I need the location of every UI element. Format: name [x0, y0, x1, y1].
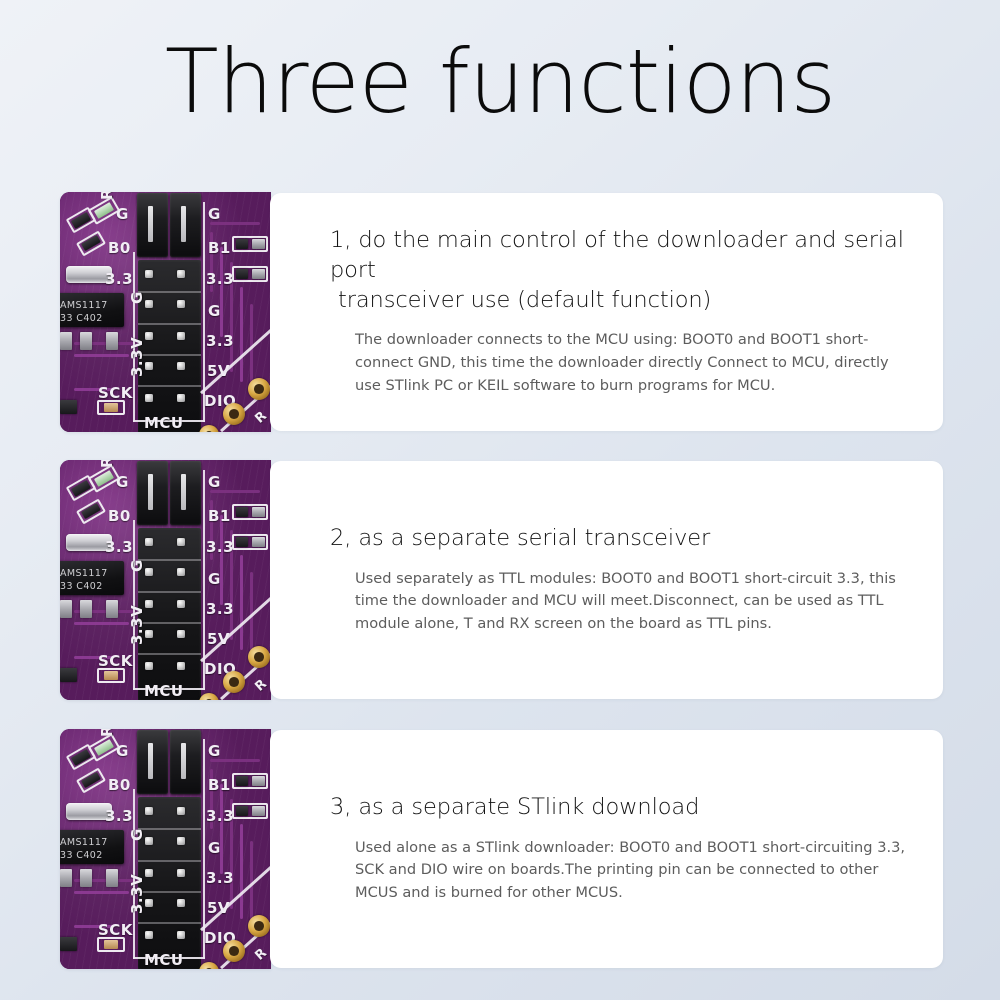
- pcb-label-mcu: MCU: [144, 414, 184, 432]
- pcb-label-g-left: G: [116, 473, 129, 491]
- pcb-regulator-label: AMS1117: [60, 300, 108, 311]
- pcb-via: [223, 403, 245, 425]
- pcb-pin: [145, 394, 153, 402]
- pcb-pin: [145, 837, 153, 845]
- function-card-3: 3, as a separate STlink download Used al…: [270, 730, 943, 968]
- card-description-2: Used separately as TTL modules: BOOT0 an…: [330, 568, 913, 636]
- pcb-pin: [145, 807, 153, 815]
- pcb-pin: [177, 662, 185, 670]
- pcb-pin: [177, 394, 185, 402]
- pcb-label-sck: SCK: [98, 921, 133, 939]
- pcb-component: [60, 937, 77, 951]
- pcb-pin: [145, 931, 153, 939]
- pcb-pin: [145, 270, 153, 278]
- pcb-divider: [138, 828, 201, 830]
- pcb-label-corner: R: [98, 192, 116, 200]
- pcb-pin: [177, 630, 185, 638]
- pcb-label-g-right: G: [208, 205, 221, 223]
- pcb-label-b1: B1: [208, 507, 231, 525]
- pcb-label-33-right2: 3.3: [206, 600, 234, 618]
- pcb-jumper-slot: [181, 743, 186, 779]
- pcb-label-g-left2: G: [128, 828, 146, 841]
- pcb-label-sck: SCK: [98, 384, 133, 402]
- pcb-pin: [177, 362, 185, 370]
- pcb-trace: [220, 515, 223, 605]
- pcb-pad: [60, 869, 72, 887]
- pcb-label-33-right2: 3.3: [206, 869, 234, 887]
- function-row-1: AMS1117 33 C402: [60, 192, 943, 432]
- pcb-pin: [145, 568, 153, 576]
- pcb-component: [60, 400, 77, 414]
- pcb-component: [252, 776, 265, 786]
- pcb-pin: [145, 662, 153, 670]
- pcb-label-b0: B0: [108, 239, 131, 257]
- pcb-divider: [138, 291, 201, 293]
- pcb-pad: [80, 600, 92, 618]
- pcb-divider: [138, 559, 201, 561]
- pcb-label-b1: B1: [208, 239, 231, 257]
- function-card-2: 2, as a separate serial transceiver Used…: [270, 461, 943, 699]
- pcb-pad: [80, 869, 92, 887]
- pcb-divider: [138, 591, 201, 593]
- pcb-component: [252, 537, 265, 547]
- pcb-component: [236, 269, 248, 279]
- pcb-pin: [145, 630, 153, 638]
- pcb-pin: [177, 300, 185, 308]
- pcb-via: [248, 646, 270, 668]
- pcb-pin: [177, 837, 185, 845]
- pcb-pad: [106, 600, 118, 618]
- pcb-pad: [80, 332, 92, 350]
- pcb-pin: [177, 538, 185, 546]
- card-description-1: The downloader connects to the MCU using…: [330, 329, 913, 397]
- pcb-label-33v: 3.3V: [128, 605, 146, 645]
- pcb-pin: [145, 538, 153, 546]
- card-content: 2, as a separate serial transceiver Used…: [330, 461, 913, 699]
- pcb-divider: [138, 653, 201, 655]
- card-description-3: Used alone as a STlink downloader: BOOT0…: [330, 837, 913, 905]
- pcb-photo-1: AMS1117 33 C402: [60, 192, 271, 432]
- pcb-pin-header: [138, 528, 201, 700]
- pcb-label-mcu: MCU: [144, 951, 184, 969]
- pcb-label-corner: R: [98, 729, 116, 737]
- pcb-pad: [60, 332, 72, 350]
- function-card-1: 1, do the main control of the downloader…: [270, 193, 943, 431]
- pcb-divider: [138, 860, 201, 862]
- pcb-pad: [106, 869, 118, 887]
- pcb-divider: [138, 922, 201, 924]
- pcb-label-g-left: G: [116, 742, 129, 760]
- pcb-label-33-right: 3.3: [206, 538, 234, 556]
- pcb-resistor: [104, 403, 118, 412]
- pcb-pin: [177, 899, 185, 907]
- pcb-label-b0: B0: [108, 507, 131, 525]
- pcb-pin: [145, 332, 153, 340]
- pcb-pin: [177, 332, 185, 340]
- pcb-label-33-right2: 3.3: [206, 332, 234, 350]
- card-heading-line2: transceiver use (default function): [330, 286, 913, 316]
- pcb-label-b0: B0: [108, 776, 131, 794]
- pcb-component: [252, 239, 265, 249]
- pcb-component: [60, 668, 77, 682]
- pcb-label-g-right: G: [208, 742, 221, 760]
- pcb-component: [252, 269, 265, 279]
- card-heading-3: 3, as a separate STlink download: [330, 793, 913, 823]
- pcb-component: [236, 507, 248, 517]
- card-content: 3, as a separate STlink download Used al…: [330, 730, 913, 968]
- pcb-component: [236, 806, 248, 816]
- pcb-label-33-left: 3.3: [105, 270, 133, 288]
- pcb-trace: [74, 354, 129, 357]
- pcb-component: [236, 537, 248, 547]
- card-heading-line1: 2, as a separate serial transceiver: [330, 525, 710, 551]
- pcb-regulator-label: AMS1117: [60, 568, 108, 579]
- pcb-regulator-label-2: 33 C402: [60, 313, 103, 324]
- pcb-pin: [145, 362, 153, 370]
- card-heading-1: 1, do the main control of the downloader…: [330, 226, 913, 315]
- pcb-label-g-left: G: [116, 205, 129, 223]
- pcb-resistor: [104, 940, 118, 949]
- pcb-via: [223, 671, 245, 693]
- pcb-label-g-right2: G: [208, 839, 221, 857]
- pcb-pin: [177, 270, 185, 278]
- pcb-label-g-right2: G: [208, 570, 221, 588]
- pcb-label-corner: R: [98, 460, 116, 468]
- pcb-pad: [60, 600, 72, 618]
- pcb-regulator-label-2: 33 C402: [60, 850, 103, 861]
- pcb-photo-2: AMS1117 33 C402: [60, 460, 271, 700]
- function-row-2: AMS1117 33 C402: [60, 460, 943, 700]
- card-content: 1, do the main control of the downloader…: [330, 193, 913, 431]
- pcb-trace: [240, 824, 243, 919]
- pcb-pin: [145, 600, 153, 608]
- pcb-label-33v: 3.3V: [128, 337, 146, 377]
- pcb-label-g-right2: G: [208, 302, 221, 320]
- card-heading-2: 2, as a separate serial transceiver: [330, 524, 913, 554]
- pcb-via: [248, 378, 270, 400]
- pcb-label-g-left2: G: [128, 559, 146, 572]
- card-heading-line1: 3, as a separate STlink download: [330, 794, 699, 820]
- pcb-pin: [177, 931, 185, 939]
- pcb-via: [248, 915, 270, 937]
- pcb-label-g-left2: G: [128, 291, 146, 304]
- pcb-label-g-right: G: [208, 473, 221, 491]
- card-heading-line1: 1, do the main control of the downloader…: [330, 227, 904, 283]
- pcb-label-mcu: MCU: [144, 682, 184, 700]
- pcb-pin: [177, 869, 185, 877]
- pcb-pin: [145, 899, 153, 907]
- pcb-label-sck: SCK: [98, 652, 133, 670]
- pcb-divider: [138, 891, 201, 893]
- pcb-divider: [138, 323, 201, 325]
- pcb-pin-header: [138, 797, 201, 969]
- pcb-pin: [177, 568, 185, 576]
- pcb-regulator-label-2: 33 C402: [60, 581, 103, 592]
- pcb-component: [252, 507, 265, 517]
- pcb-via: [223, 940, 245, 962]
- pcb-trace: [220, 784, 223, 874]
- pcb-label-33-left: 3.3: [105, 538, 133, 556]
- pcb-trace: [240, 287, 243, 382]
- pcb-pin: [145, 869, 153, 877]
- pcb-jumper-slot: [148, 206, 153, 242]
- pcb-pin-header: [138, 260, 201, 432]
- pcb-pin: [177, 600, 185, 608]
- pcb-component: [236, 776, 248, 786]
- pcb-trace: [220, 247, 223, 337]
- pcb-trace: [74, 622, 129, 625]
- pcb-pin: [177, 807, 185, 815]
- pcb-pad: [106, 332, 118, 350]
- pcb-trace: [240, 555, 243, 650]
- function-row-3: AMS1117 33 C402: [60, 729, 943, 969]
- pcb-regulator-label: AMS1117: [60, 837, 108, 848]
- pcb-label-b1: B1: [208, 776, 231, 794]
- pcb-component: [236, 239, 248, 249]
- pcb-jumper-slot: [181, 206, 186, 242]
- pcb-resistor: [104, 671, 118, 680]
- pcb-trace: [74, 891, 129, 894]
- pcb-component: [252, 806, 265, 816]
- pcb-jumper-slot: [148, 474, 153, 510]
- pcb-label-33-left: 3.3: [105, 807, 133, 825]
- pcb-label-33v: 3.3V: [128, 874, 146, 914]
- pcb-pin: [145, 300, 153, 308]
- pcb-jumper-slot: [181, 474, 186, 510]
- pcb-divider: [138, 354, 201, 356]
- pcb-divider: [138, 622, 201, 624]
- pcb-photo-3: AMS1117 33 C402: [60, 729, 271, 969]
- pcb-label-33-right: 3.3: [206, 270, 234, 288]
- page-title: Three functions: [0, 36, 1000, 128]
- pcb-label-33-right: 3.3: [206, 807, 234, 825]
- pcb-jumper-slot: [148, 743, 153, 779]
- pcb-divider: [138, 385, 201, 387]
